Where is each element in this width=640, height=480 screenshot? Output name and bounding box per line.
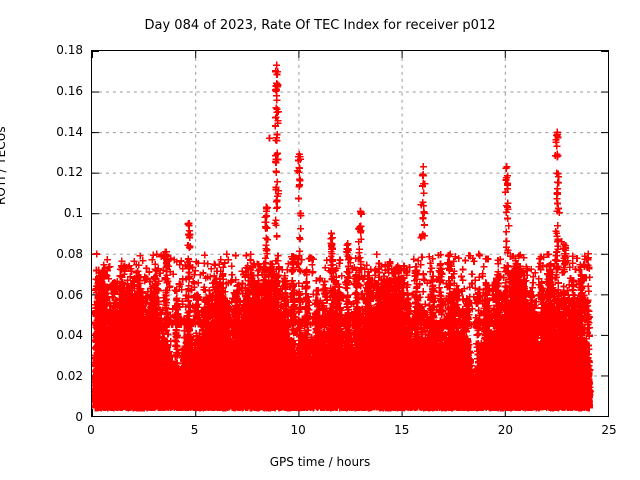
scatter-series-roti <box>92 51 608 416</box>
chart-title: Day 084 of 2023, Rate Of TEC Index for r… <box>0 18 640 33</box>
gridlines <box>92 51 608 416</box>
x-tick-label: 25 <box>579 423 639 437</box>
x-tick-label: 5 <box>165 423 225 437</box>
y-axis-tick-labels: 00.020.040.060.080.10.120.140.160.18 <box>31 0 83 480</box>
x-axis-tick-labels: 0510152025 <box>0 423 640 443</box>
y-tick-label: 0.18 <box>31 43 83 57</box>
y-tick-label: 0.16 <box>31 84 83 98</box>
y-tick-label: 0.12 <box>31 165 83 179</box>
x-tick-label: 10 <box>268 423 328 437</box>
x-tick-label: 20 <box>475 423 535 437</box>
y-tick-label: 0.14 <box>31 125 83 139</box>
x-tick-label: 0 <box>61 423 121 437</box>
y-tick-label: 0.06 <box>31 288 83 302</box>
chart-figure: Day 084 of 2023, Rate Of TEC Index for r… <box>0 0 640 480</box>
plot-area <box>91 50 609 417</box>
y-tick-label: 0 <box>31 410 83 424</box>
y-axis-label: ROTI / TECUs <box>0 126 8 205</box>
tick-marks <box>92 51 608 416</box>
y-tick-label: 0.1 <box>31 206 83 220</box>
y-tick-label: 0.08 <box>31 247 83 261</box>
y-tick-label: 0.04 <box>31 328 83 342</box>
x-tick-label: 15 <box>372 423 432 437</box>
x-axis-label: GPS time / hours <box>0 455 640 469</box>
y-tick-label: 0.02 <box>31 369 83 383</box>
